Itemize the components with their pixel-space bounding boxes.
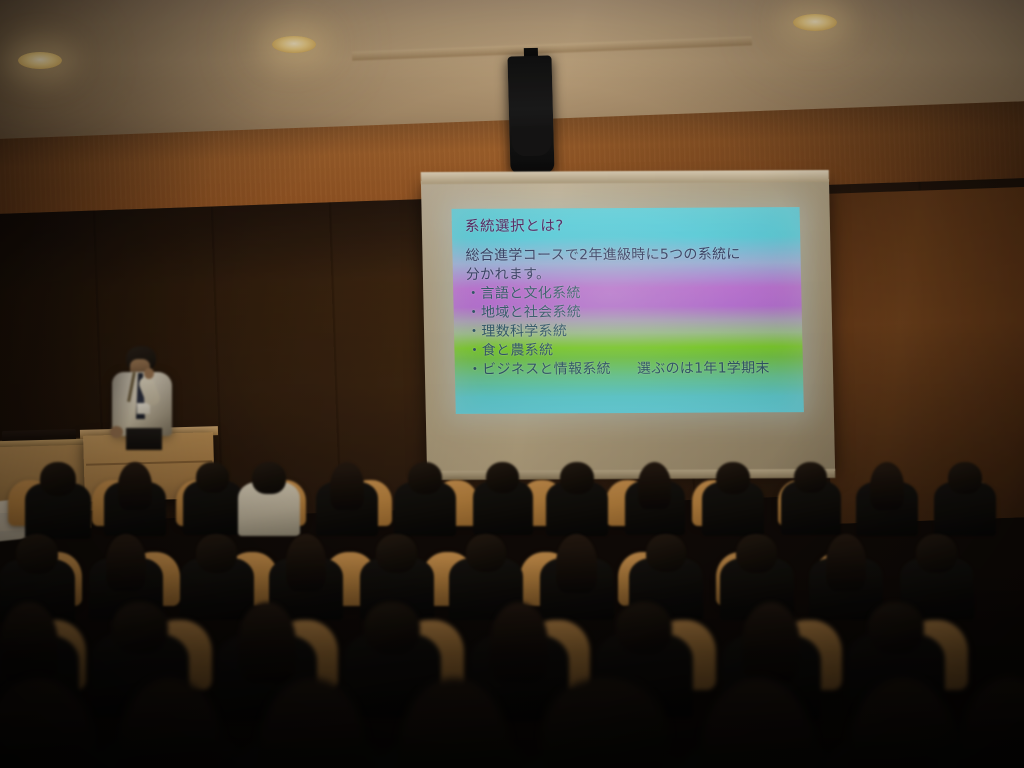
audience-member-head bbox=[716, 462, 750, 494]
audience-member-head bbox=[238, 602, 296, 683]
projection-screen: 系統選択とは? 総合進学コースで2年進級時に5つの系統に 分かれます。 ・言語と… bbox=[421, 179, 835, 473]
audience-member-head bbox=[948, 462, 982, 494]
audience-member-head bbox=[118, 462, 152, 510]
slide-bullet-5: ・ビジネスと情報系統 bbox=[468, 362, 611, 379]
audience bbox=[0, 452, 1024, 768]
slide-title: 系統選択とは? bbox=[465, 216, 796, 236]
projected-slide: 系統選択とは? 総合進学コースで2年進級時に5つの系統に 分かれます。 ・言語と… bbox=[452, 207, 804, 414]
audience-member-head bbox=[794, 462, 827, 493]
audience-member-head bbox=[408, 462, 442, 494]
screen-top-roller bbox=[421, 170, 829, 184]
slide-body-line-1: 総合進学コースで2年進級時に5つの系統に bbox=[465, 245, 796, 265]
presenter-hand-on-lectern bbox=[110, 426, 123, 438]
audience-member-head bbox=[330, 462, 364, 510]
audience-member-head bbox=[916, 534, 957, 573]
audience-member-head bbox=[638, 462, 671, 509]
audience-member-head bbox=[742, 602, 800, 683]
audience-member-head bbox=[868, 602, 924, 654]
audience-member-head bbox=[286, 534, 326, 591]
audience-member-head bbox=[870, 462, 904, 510]
audience-member-head bbox=[556, 534, 597, 593]
downlight-right-icon bbox=[793, 14, 837, 31]
audience-member-head bbox=[616, 602, 672, 654]
slide-body-line-2: 分かれます。 bbox=[466, 264, 797, 284]
audience-member-head bbox=[252, 462, 286, 494]
slide-bullet-1: ・言語と文化系統 bbox=[466, 283, 797, 304]
slide-bullet-4: ・食と農系統 bbox=[467, 341, 798, 362]
audience-member-head bbox=[466, 534, 506, 572]
slide-bullet-list: ・言語と文化系統 ・地域と社会系統 ・理数科学系統 ・食と農系統 ・ビジネスと情… bbox=[466, 283, 799, 380]
audience-member-head bbox=[376, 534, 417, 573]
slide-bullet-3: ・理数科学系統 bbox=[467, 322, 798, 343]
audience-member-head bbox=[0, 678, 98, 768]
audience-member-head bbox=[40, 462, 76, 496]
audience-member-head bbox=[16, 534, 58, 574]
audience-member-head bbox=[560, 462, 594, 494]
audience-member-head bbox=[490, 602, 548, 683]
audience-member-head bbox=[0, 602, 58, 683]
audience-member-head bbox=[106, 534, 146, 591]
downlight-left-icon bbox=[18, 52, 62, 69]
audience-member-head bbox=[196, 462, 229, 493]
auditorium-photo: 系統選択とは? 総合進学コースで2年進級時に5つの系統に 分かれます。 ・言語と… bbox=[0, 0, 1024, 768]
downlight-center-icon bbox=[272, 36, 316, 53]
slide-body: 総合進学コースで2年進級時に5つの系統に 分かれます。 bbox=[465, 245, 797, 284]
audience-member-head bbox=[112, 602, 168, 654]
presenter-hand bbox=[144, 368, 154, 379]
audience-member-head bbox=[736, 534, 777, 573]
audience-member-head bbox=[486, 462, 519, 493]
audience-member-head bbox=[826, 534, 866, 591]
audience-member-head bbox=[364, 602, 420, 654]
slide-bullet-5-with-note: ・ビジネスと情報系統選ぶのは1年1学期末 bbox=[468, 360, 799, 381]
slide-text-block: 系統選択とは? 総合進学コースで2年進級時に5つの系統に 分かれます。 ・言語と… bbox=[465, 216, 799, 380]
slide-note: 選ぶのは1年1学期末 bbox=[637, 361, 770, 378]
presenter-trousers bbox=[126, 428, 162, 450]
presenter bbox=[106, 346, 190, 446]
audience-member-head bbox=[196, 534, 237, 573]
ceiling-speaker-icon bbox=[507, 55, 554, 174]
slide-bullet-2: ・地域と社会系統 bbox=[467, 302, 798, 323]
audience-member-head bbox=[646, 534, 686, 572]
audience-member-head bbox=[960, 678, 1024, 768]
